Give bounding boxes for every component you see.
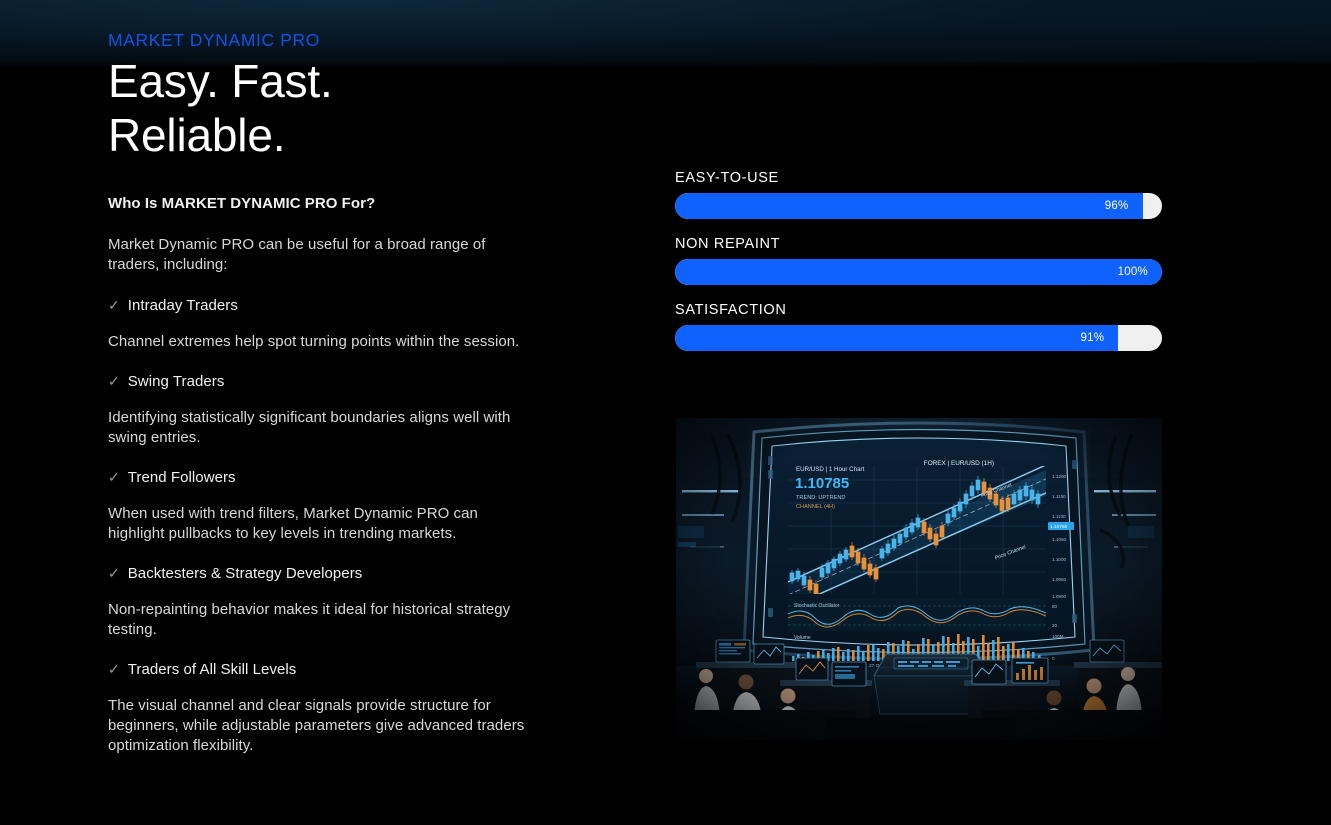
audience-section: Who Is MARKET DYNAMIC PRO For? Market Dy… [108, 193, 528, 775]
progress-value: 100% [1118, 266, 1148, 278]
progress-value: 96% [1105, 200, 1129, 212]
stat-label: NON REPAINT [675, 236, 1162, 252]
stat-row-non-repaint: NON REPAINT 100% [675, 236, 1162, 285]
audience-description: When used with trend filters, Market Dyn… [108, 504, 528, 544]
list-item: ✓ Backtesters & Strategy Developers [108, 563, 528, 584]
stat-row-easy-to-use: EASY-TO-USE 96% [675, 170, 1162, 219]
list-item: ✓ Trend Followers [108, 467, 528, 488]
hero-trading-floor-image: EUR/USD | 1 Hour Chart 1.10785 TREND: UP… [676, 418, 1162, 740]
stat-label: SATISFACTION [675, 302, 1162, 318]
check-icon: ✓ [108, 295, 120, 315]
hero-illustration: EUR/USD | 1 Hour Chart 1.10785 TREND: UP… [676, 418, 1162, 740]
audience-description: The visual channel and clear signals pro… [108, 696, 528, 756]
audience-label: Traders of All Skill Levels [128, 660, 297, 680]
list-item: ✓ Swing Traders [108, 371, 528, 392]
progress-bar-fill: 91% [675, 325, 1118, 351]
stat-label: EASY-TO-USE [675, 170, 1162, 186]
page-title: Easy. Fast. Reliable. [108, 54, 333, 162]
check-icon: ✓ [108, 659, 120, 679]
brand-label: MARKET DYNAMIC PRO [108, 30, 320, 51]
progress-bar-fill: 100% [675, 259, 1162, 285]
progress-bar-fill: 96% [675, 193, 1143, 219]
audience-question: Who Is MARKET DYNAMIC PRO For? [108, 193, 528, 215]
audience-label: Swing Traders [128, 372, 225, 392]
progress-bar-satisfaction: 91% [675, 325, 1162, 351]
check-icon: ✓ [108, 563, 120, 583]
headline-line-1: Easy. Fast. [108, 54, 333, 108]
progress-bar-easy-to-use: 96% [675, 193, 1162, 219]
stat-row-satisfaction: SATISFACTION 91% [675, 302, 1162, 351]
list-item: ✓ Traders of All Skill Levels [108, 659, 528, 680]
check-icon: ✓ [108, 371, 120, 391]
progress-value: 91% [1080, 332, 1104, 344]
audience-description: Identifying statistically significant bo… [108, 408, 528, 448]
list-item: ✓ Intraday Traders [108, 295, 528, 316]
audience-label: Backtesters & Strategy Developers [128, 564, 363, 584]
stats-panel: EASY-TO-USE 96% NON REPAINT 100% SATISFA… [675, 170, 1162, 351]
check-icon: ✓ [108, 467, 120, 487]
audience-description: Non-repainting behavior makes it ideal f… [108, 600, 528, 640]
headline-line-2: Reliable. [108, 108, 333, 162]
audience-intro: Market Dynamic PRO can be useful for a b… [108, 235, 528, 275]
progress-bar-non-repaint: 100% [675, 259, 1162, 285]
audience-label: Trend Followers [128, 468, 236, 488]
audience-label: Intraday Traders [128, 296, 238, 316]
audience-description: Channel extremes help spot turning point… [108, 332, 528, 352]
